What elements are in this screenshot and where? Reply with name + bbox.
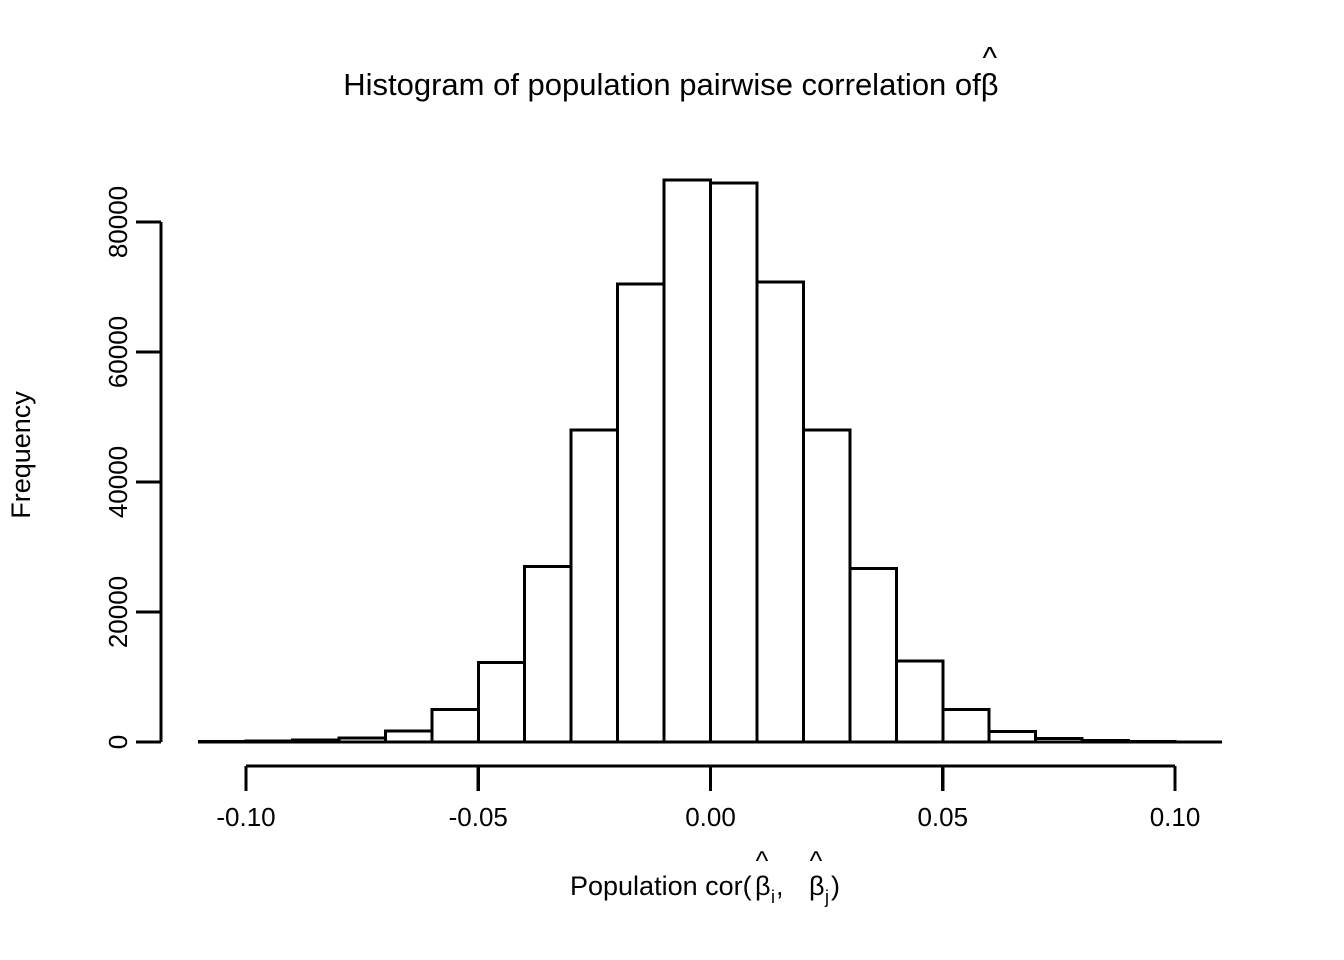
beta-i-symbol: β: [755, 871, 771, 901]
y-tick-marks: [136, 222, 161, 742]
y-tick-label: 40000: [103, 446, 133, 518]
histogram-plot-panel: Histogram of population pairwise correla…: [0, 0, 1344, 960]
histogram-bar: [432, 710, 478, 743]
x-tick-labels: -0.10-0.050.000.050.10: [216, 802, 1200, 832]
histogram-bar: [896, 661, 942, 742]
histogram-bar: [571, 430, 617, 742]
chart-title: Histogram of population pairwise correla…: [343, 67, 981, 102]
histogram-bar: [385, 731, 431, 742]
beta-j-symbol: β: [809, 871, 825, 901]
x-axis-title-suffix: ): [831, 871, 840, 901]
histogram-bar: [757, 282, 803, 742]
beta-j-subscript: j: [824, 887, 829, 907]
x-tick-label: 0.00: [685, 802, 736, 832]
histogram-chart: Histogram of population pairwise correla…: [0, 0, 1344, 960]
x-axis-title-comma: ,: [776, 871, 784, 901]
histogram-bar: [850, 568, 896, 742]
x-tick-label: 0.10: [1150, 802, 1201, 832]
y-tick-label: 60000: [103, 316, 133, 388]
histogram-bars: [200, 180, 1175, 742]
x-tick-marks: [246, 766, 1175, 791]
y-axis-title: Frequency: [6, 391, 36, 519]
x-axis: -0.10-0.050.000.050.10: [216, 766, 1200, 832]
x-axis-title: Population cor( ^ β i , ^ β j ): [570, 846, 840, 907]
histogram-bar: [478, 663, 524, 742]
x-axis-title-prefix: Population cor(: [570, 871, 752, 901]
histogram-bar: [664, 180, 710, 742]
y-tick-label: 80000: [103, 186, 133, 258]
beta-i-subscript: i: [771, 887, 775, 907]
histogram-bar: [943, 710, 989, 743]
histogram-bar: [803, 430, 849, 742]
y-tick-labels: 020000400006000080000: [103, 186, 133, 749]
y-tick-label: 20000: [103, 576, 133, 648]
y-axis: 020000400006000080000 Frequency: [6, 186, 161, 749]
y-tick-label: 0: [103, 735, 133, 749]
histogram-bar: [618, 284, 664, 742]
title-beta-symbol: β: [981, 67, 999, 102]
histogram-bar: [525, 567, 571, 743]
histogram-bar: [989, 731, 1035, 742]
x-tick-label: -0.10: [216, 802, 275, 832]
x-tick-label: 0.05: [917, 802, 968, 832]
x-tick-label: -0.05: [449, 802, 508, 832]
histogram-bar: [711, 183, 757, 742]
